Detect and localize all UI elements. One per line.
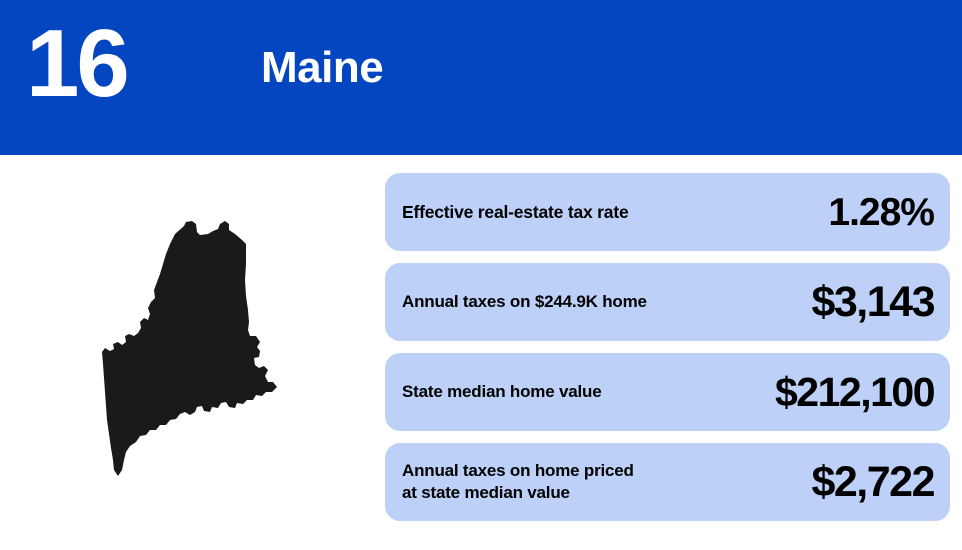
rank-number: 16 [26, 16, 127, 112]
stat-card-label: Effective real-estate tax rate [402, 201, 638, 224]
stat-card-label-line-2: at state median value [402, 482, 634, 504]
stat-card-label: Annual taxes on $244.9K home [402, 291, 657, 313]
stat-card-annual-taxes-median: Annual taxes on home priced at state med… [385, 443, 950, 521]
header-band: 16 Maine [0, 0, 962, 155]
stat-card-value: $2,722 [811, 461, 934, 504]
stat-card-label: Annual taxes on home priced at state med… [402, 460, 644, 504]
stat-card-state-median-home-value: State median home value $212,100 [385, 353, 950, 431]
stat-card-effective-tax-rate: Effective real-estate tax rate 1.28% [385, 173, 950, 251]
state-map [96, 218, 296, 488]
stat-card-label: State median home value [402, 381, 611, 403]
stat-card-label-line-1: Annual taxes on home priced [402, 460, 634, 482]
stat-card-value: $3,143 [811, 281, 934, 324]
stat-card-value: 1.28% [828, 193, 934, 232]
stat-card-value: $212,100 [775, 372, 934, 413]
maine-map-icon [96, 218, 296, 488]
stat-card-annual-taxes-244k: Annual taxes on $244.9K home $3,143 [385, 263, 950, 341]
stat-card-list: Effective real-estate tax rate 1.28% Ann… [385, 173, 950, 521]
page-title: Maine [261, 46, 383, 90]
